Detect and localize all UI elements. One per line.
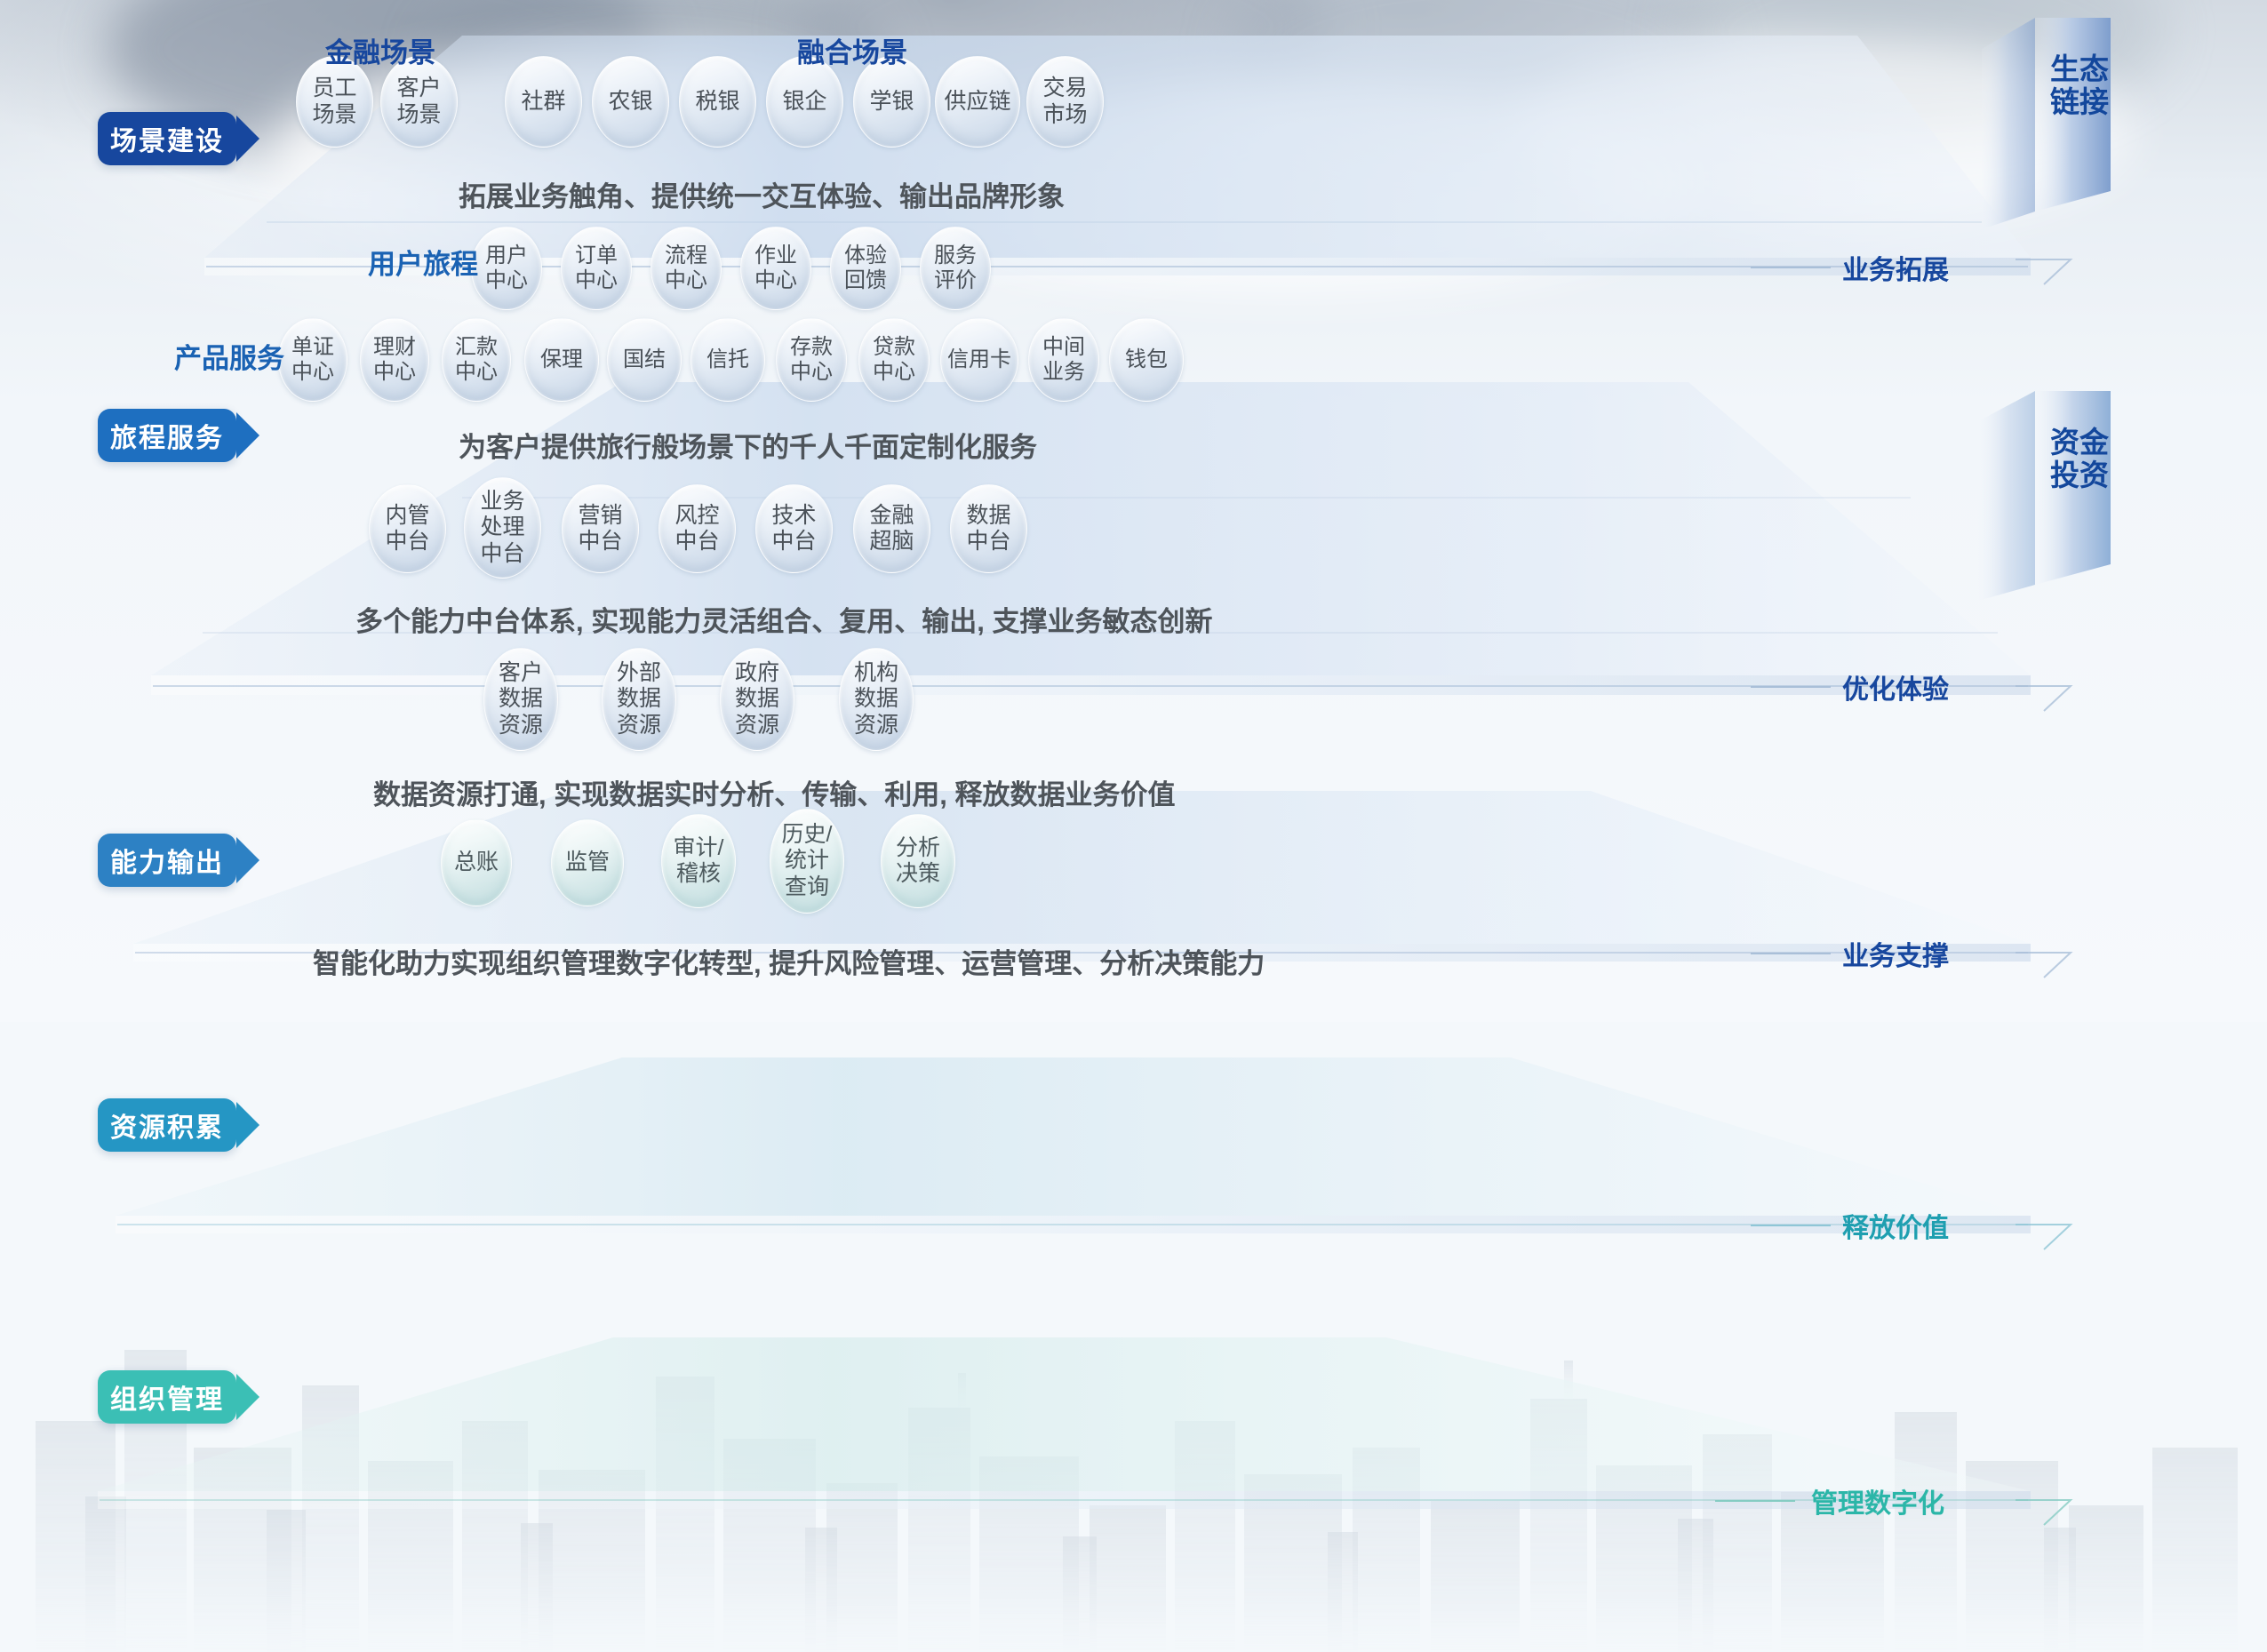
tier-pill-label: 旅程服务 — [110, 416, 224, 455]
product-node[interactable]: 钱包 — [1109, 318, 1184, 402]
organization-node[interactable]: 历史/ 统计 查询 — [770, 809, 844, 914]
pill-arrow-icon — [236, 837, 259, 883]
side-banner-line2: 投资 — [2042, 459, 2117, 492]
tier-pill-label: 场景建设 — [110, 119, 224, 158]
node-label: 国结 — [623, 347, 666, 372]
tier-pill-journey-service[interactable]: 旅程服务 — [98, 409, 236, 462]
node-label: 存款 中心 — [790, 335, 833, 386]
scene-node[interactable]: 供应链 — [935, 56, 1020, 148]
tier-caption-resource-accumulation: 数据资源打通, 实现数据实时分析、传输、利用, 释放数据业务价值 — [373, 772, 1175, 812]
side-banner-capital-investment: 资金 投资 — [2035, 391, 2133, 587]
edge-rule — [1751, 686, 1831, 688]
product-node[interactable]: 汇款 中心 — [442, 318, 511, 402]
node-label: 农银 — [608, 89, 652, 116]
node-label: 作业 中心 — [754, 243, 797, 294]
tier-pill-organization-management[interactable]: 组织管理 — [98, 1370, 236, 1424]
journey-node[interactable]: 订单 中心 — [561, 227, 632, 310]
node-label: 业务 处理 中台 — [480, 489, 524, 568]
edge-tag-business-support: 业务支撑 — [1842, 934, 1949, 973]
resource-node[interactable]: 客户 数据 资源 — [483, 648, 558, 751]
tier-caption-capability-output: 多个能力中台体系, 实现能力灵活组合、复用、输出, 支撑业务敏态创新 — [355, 599, 1212, 639]
tier-pill-capability-output[interactable]: 能力输出 — [98, 834, 236, 887]
node-label: 客户 场景 — [396, 76, 441, 128]
product-node[interactable]: 信用卡 — [940, 318, 1018, 402]
column-heading-financial-scene: 金融场景 — [325, 30, 435, 70]
tier-pill-label: 能力输出 — [110, 841, 224, 880]
node-label: 税银 — [695, 89, 739, 116]
scene-node[interactable]: 社群 — [505, 56, 582, 148]
organization-node[interactable]: 总账 — [441, 819, 512, 906]
side-banner-line2: 链接 — [2042, 86, 2117, 119]
edge-tag-release-value: 释放价值 — [1842, 1206, 1949, 1245]
tier-pill-label: 组织管理 — [110, 1377, 224, 1417]
side-banner-text: 资金 投资 — [2042, 427, 2117, 492]
product-node[interactable]: 国结 — [607, 318, 682, 402]
node-label: 用户 中心 — [485, 243, 528, 294]
scene-node[interactable]: 税银 — [679, 56, 756, 148]
pill-arrow-icon — [236, 412, 259, 459]
node-label: 监管 — [565, 850, 610, 876]
edge-tag-optimize-experience: 优化体验 — [1842, 667, 1949, 706]
node-label: 技术 中台 — [771, 503, 816, 555]
edge-rule — [1751, 267, 1831, 268]
column-heading-fusion-scene: 融合场景 — [797, 30, 907, 70]
node-label: 学银 — [869, 89, 914, 116]
node-label: 员工 场景 — [312, 76, 356, 128]
node-label: 内管 中台 — [385, 503, 429, 555]
node-label: 金融 超脑 — [869, 503, 914, 555]
node-label: 社群 — [521, 89, 565, 116]
capability-node[interactable]: 金融 超脑 — [853, 484, 930, 573]
node-label: 总账 — [454, 850, 499, 876]
journey-node[interactable]: 流程 中心 — [651, 227, 722, 310]
edge-rule — [1751, 1225, 1831, 1226]
pill-arrow-icon — [236, 1102, 259, 1148]
node-label: 外部 数据 资源 — [617, 660, 661, 739]
tier-caption-journey-service: 为客户提供旅行般场景下的千人千面定制化服务 — [459, 425, 1037, 465]
journey-node[interactable]: 用户 中心 — [471, 227, 542, 310]
node-label: 银企 — [782, 89, 826, 116]
scene-node[interactable]: 交易 市场 — [1026, 56, 1104, 148]
node-label: 客户 数据 资源 — [499, 660, 543, 739]
organization-node[interactable]: 监管 — [551, 819, 624, 906]
product-node[interactable]: 信托 — [690, 318, 765, 402]
product-node[interactable]: 存款 中心 — [776, 318, 847, 402]
resource-node[interactable]: 政府 数据 资源 — [720, 648, 794, 751]
edge-tag-management-digitalization: 管理数字化 — [1811, 1481, 1944, 1520]
edge-rule — [1715, 1500, 1795, 1502]
node-label: 订单 中心 — [575, 243, 618, 294]
organization-node[interactable]: 审计/ 稽核 — [661, 814, 736, 908]
node-label: 钱包 — [1125, 347, 1168, 372]
journey-node[interactable]: 服务 评价 — [920, 227, 991, 310]
node-label: 信托 — [706, 347, 749, 372]
product-node[interactable]: 保理 — [524, 318, 599, 402]
tier-caption-scene-construction: 拓展业务触角、提供统一交互体验、输出品牌形象 — [459, 174, 1065, 214]
capability-node[interactable]: 数据 中台 — [950, 484, 1027, 573]
node-label: 贷款 中心 — [873, 335, 915, 386]
capability-node[interactable]: 风控 中台 — [659, 484, 736, 573]
capability-node[interactable]: 营销 中台 — [562, 484, 639, 573]
edge-rule — [1751, 953, 1831, 954]
node-label: 数据 中台 — [966, 503, 1010, 555]
node-label: 中间 业务 — [1042, 335, 1085, 386]
node-label: 体验 回馈 — [844, 243, 887, 294]
node-label: 流程 中心 — [665, 243, 707, 294]
capability-node[interactable]: 业务 处理 中台 — [464, 477, 541, 579]
node-label: 服务 评价 — [934, 243, 977, 294]
capability-node[interactable]: 内管 中台 — [369, 484, 446, 573]
resource-node[interactable]: 外部 数据 资源 — [602, 648, 676, 751]
group-label-user-journey: 用户旅程 — [368, 242, 478, 282]
product-node[interactable]: 单证 中心 — [278, 318, 347, 402]
pill-arrow-icon — [236, 116, 259, 162]
node-label: 保理 — [540, 347, 583, 372]
resource-node[interactable]: 机构 数据 资源 — [839, 648, 914, 751]
node-label: 单证 中心 — [291, 335, 334, 386]
organization-node[interactable]: 分析 决策 — [881, 814, 955, 908]
capability-node[interactable]: 技术 中台 — [755, 484, 833, 573]
node-label: 政府 数据 资源 — [735, 660, 779, 739]
pill-arrow-icon — [236, 1374, 259, 1420]
product-node[interactable]: 中间 业务 — [1028, 318, 1099, 402]
tier-caption-organization-management: 智能化助力实现组织管理数字化转型, 提升风险管理、运营管理、分析决策能力 — [313, 941, 1265, 981]
node-label: 供应链 — [944, 89, 1010, 116]
side-banner-line1: 生态 — [2042, 53, 2117, 86]
node-label: 风控 中台 — [675, 503, 719, 555]
tier-pill-resource-accumulation[interactable]: 资源积累 — [98, 1098, 236, 1152]
edge-tag-business-expansion: 业务拓展 — [1842, 248, 1949, 287]
tier-pill-label: 资源积累 — [110, 1105, 224, 1145]
side-banner-ecosystem-link: 生态 链接 — [2035, 18, 2133, 213]
node-label: 营销 中台 — [578, 503, 622, 555]
node-label: 汇款 中心 — [455, 335, 498, 386]
scene-node[interactable]: 农银 — [592, 56, 669, 148]
node-label: 分析 决策 — [896, 835, 940, 888]
node-label: 理财 中心 — [373, 335, 416, 386]
side-banner-text: 生态 链接 — [2042, 53, 2117, 119]
group-label-product-service: 产品服务 — [174, 336, 284, 376]
node-label: 历史/ 统计 查询 — [782, 822, 833, 901]
tier-pill-scene-construction[interactable]: 场景建设 — [98, 112, 236, 165]
product-node[interactable]: 贷款 中心 — [858, 318, 930, 402]
product-node[interactable]: 理财 中心 — [360, 318, 429, 402]
node-label: 交易 市场 — [1042, 76, 1087, 128]
node-label: 信用卡 — [947, 347, 1011, 372]
side-banner-line1: 资金 — [2042, 427, 2117, 459]
journey-node[interactable]: 体验 回馈 — [830, 227, 901, 310]
node-label: 审计/ 稽核 — [674, 835, 724, 888]
journey-node[interactable]: 作业 中心 — [740, 227, 811, 310]
node-label: 机构 数据 资源 — [854, 660, 898, 739]
